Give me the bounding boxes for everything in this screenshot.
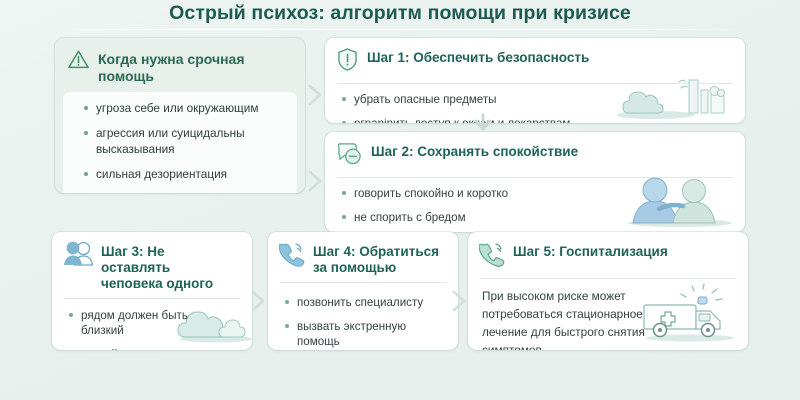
warning-list: угроза себе или окружающим агрессия или … xyxy=(69,101,291,193)
list-item: не спорить с бредом xyxy=(341,210,733,225)
list-item: угроза себе или окружающим xyxy=(83,101,287,116)
arrow-step1-to-step2 xyxy=(470,112,496,139)
step-2-card: Шаг 2: Сохранять спокойствие говорить сп… xyxy=(325,132,745,232)
step-3-header: Шаг 3: Не оставлять чеповека одного xyxy=(52,232,252,298)
step-1-list: убрать опасные предметы ограninить досту… xyxy=(325,84,745,123)
speech-bubbles-icon xyxy=(336,141,363,171)
step-2-list: говорить спокойно и коротко не спорить с… xyxy=(325,178,745,232)
warning-card-body: угроза себе или окружающим агрессия или … xyxy=(63,92,297,193)
list-item: позвонить специалисту xyxy=(284,295,446,310)
warning-triangle-icon xyxy=(67,48,90,76)
step-4-header: Шаг 4: Обратиться за помощью xyxy=(268,232,458,282)
step-5-paragraph: При высоком риске может потребоваться ст… xyxy=(468,279,748,350)
step-3-heading: Шаг 3: Не оставлять чеповека одного xyxy=(101,241,233,292)
step-3-card: Шаг 3: Не оставлять чеповека одного рядо… xyxy=(52,232,252,350)
arrow-warning-to-step2 xyxy=(306,168,328,199)
step-4-heading: Шаг 4: Обратиться за помощью xyxy=(313,241,443,276)
warning-card-header: Когда нужна срочная помощь xyxy=(55,38,305,92)
step-2-heading: Шаг 2: Сохранять спокойствие xyxy=(371,141,578,160)
step-4-list: позвонить специалисту вызвать экстренную… xyxy=(268,283,458,350)
step-1-header: Шаг 1: Обеспечить безопасность xyxy=(325,38,745,83)
list-item: ограninить доступ к окнам и лекарствам xyxy=(341,116,733,123)
step-5-card: Шаг 5: Госпитализация При высоком риске … xyxy=(468,232,748,350)
two-persons-icon xyxy=(63,241,93,272)
arrow-step3-to-step4 xyxy=(249,288,271,319)
page-title: Острый психоз: алгоритм помощи при кризи… xyxy=(0,2,800,25)
phone-signal-icon xyxy=(279,241,305,272)
list-item: вызвать экстренную помощь xyxy=(284,319,446,349)
phone-ring-icon xyxy=(479,241,505,272)
title-divider xyxy=(55,29,745,30)
step-2-header: Шаг 2: Сохранять спокойствие xyxy=(325,132,745,177)
infographic-root: Острый психоз: алгоритм помощи при кризи… xyxy=(0,0,800,400)
arrow-step4-to-step5 xyxy=(450,288,472,319)
list-item: убрать опасные предметы xyxy=(341,92,733,107)
step-5-heading: Шаг 5: Госпитализация xyxy=(513,241,668,260)
list-item: говорить спокойно и коротко xyxy=(341,186,733,201)
list-item: рядом должен быть близкий xyxy=(68,308,216,338)
list-item: спокойное присуттвие снижает тревогу xyxy=(68,347,216,350)
list-item: отказ от еды и воды из-за бреда xyxy=(83,192,287,193)
warning-card-heading: Когда нужна срочная помощь xyxy=(98,48,293,84)
step-5-header: Шаг 5: Госпитализация xyxy=(468,232,748,278)
step-3-list: рядом должен быть близкий спокойное прис… xyxy=(52,299,252,350)
step-1-card: Шаг 1: Обеспечить безопасность убрать оп… xyxy=(325,38,745,123)
shield-exclamation-icon xyxy=(336,47,359,77)
list-item: агрессия или суицидальны высказывания xyxy=(83,126,287,157)
warning-card: Когда нужна срочная помощь угроза себе и… xyxy=(55,38,305,193)
list-item: сильная дезориентация xyxy=(83,167,287,182)
step-4-card: Шаг 4: Обратиться за помощью позвонить с… xyxy=(268,232,458,350)
arrow-warning-to-step1 xyxy=(306,82,328,113)
step-1-heading: Шаг 1: Обеспечить безопасность xyxy=(367,47,589,66)
